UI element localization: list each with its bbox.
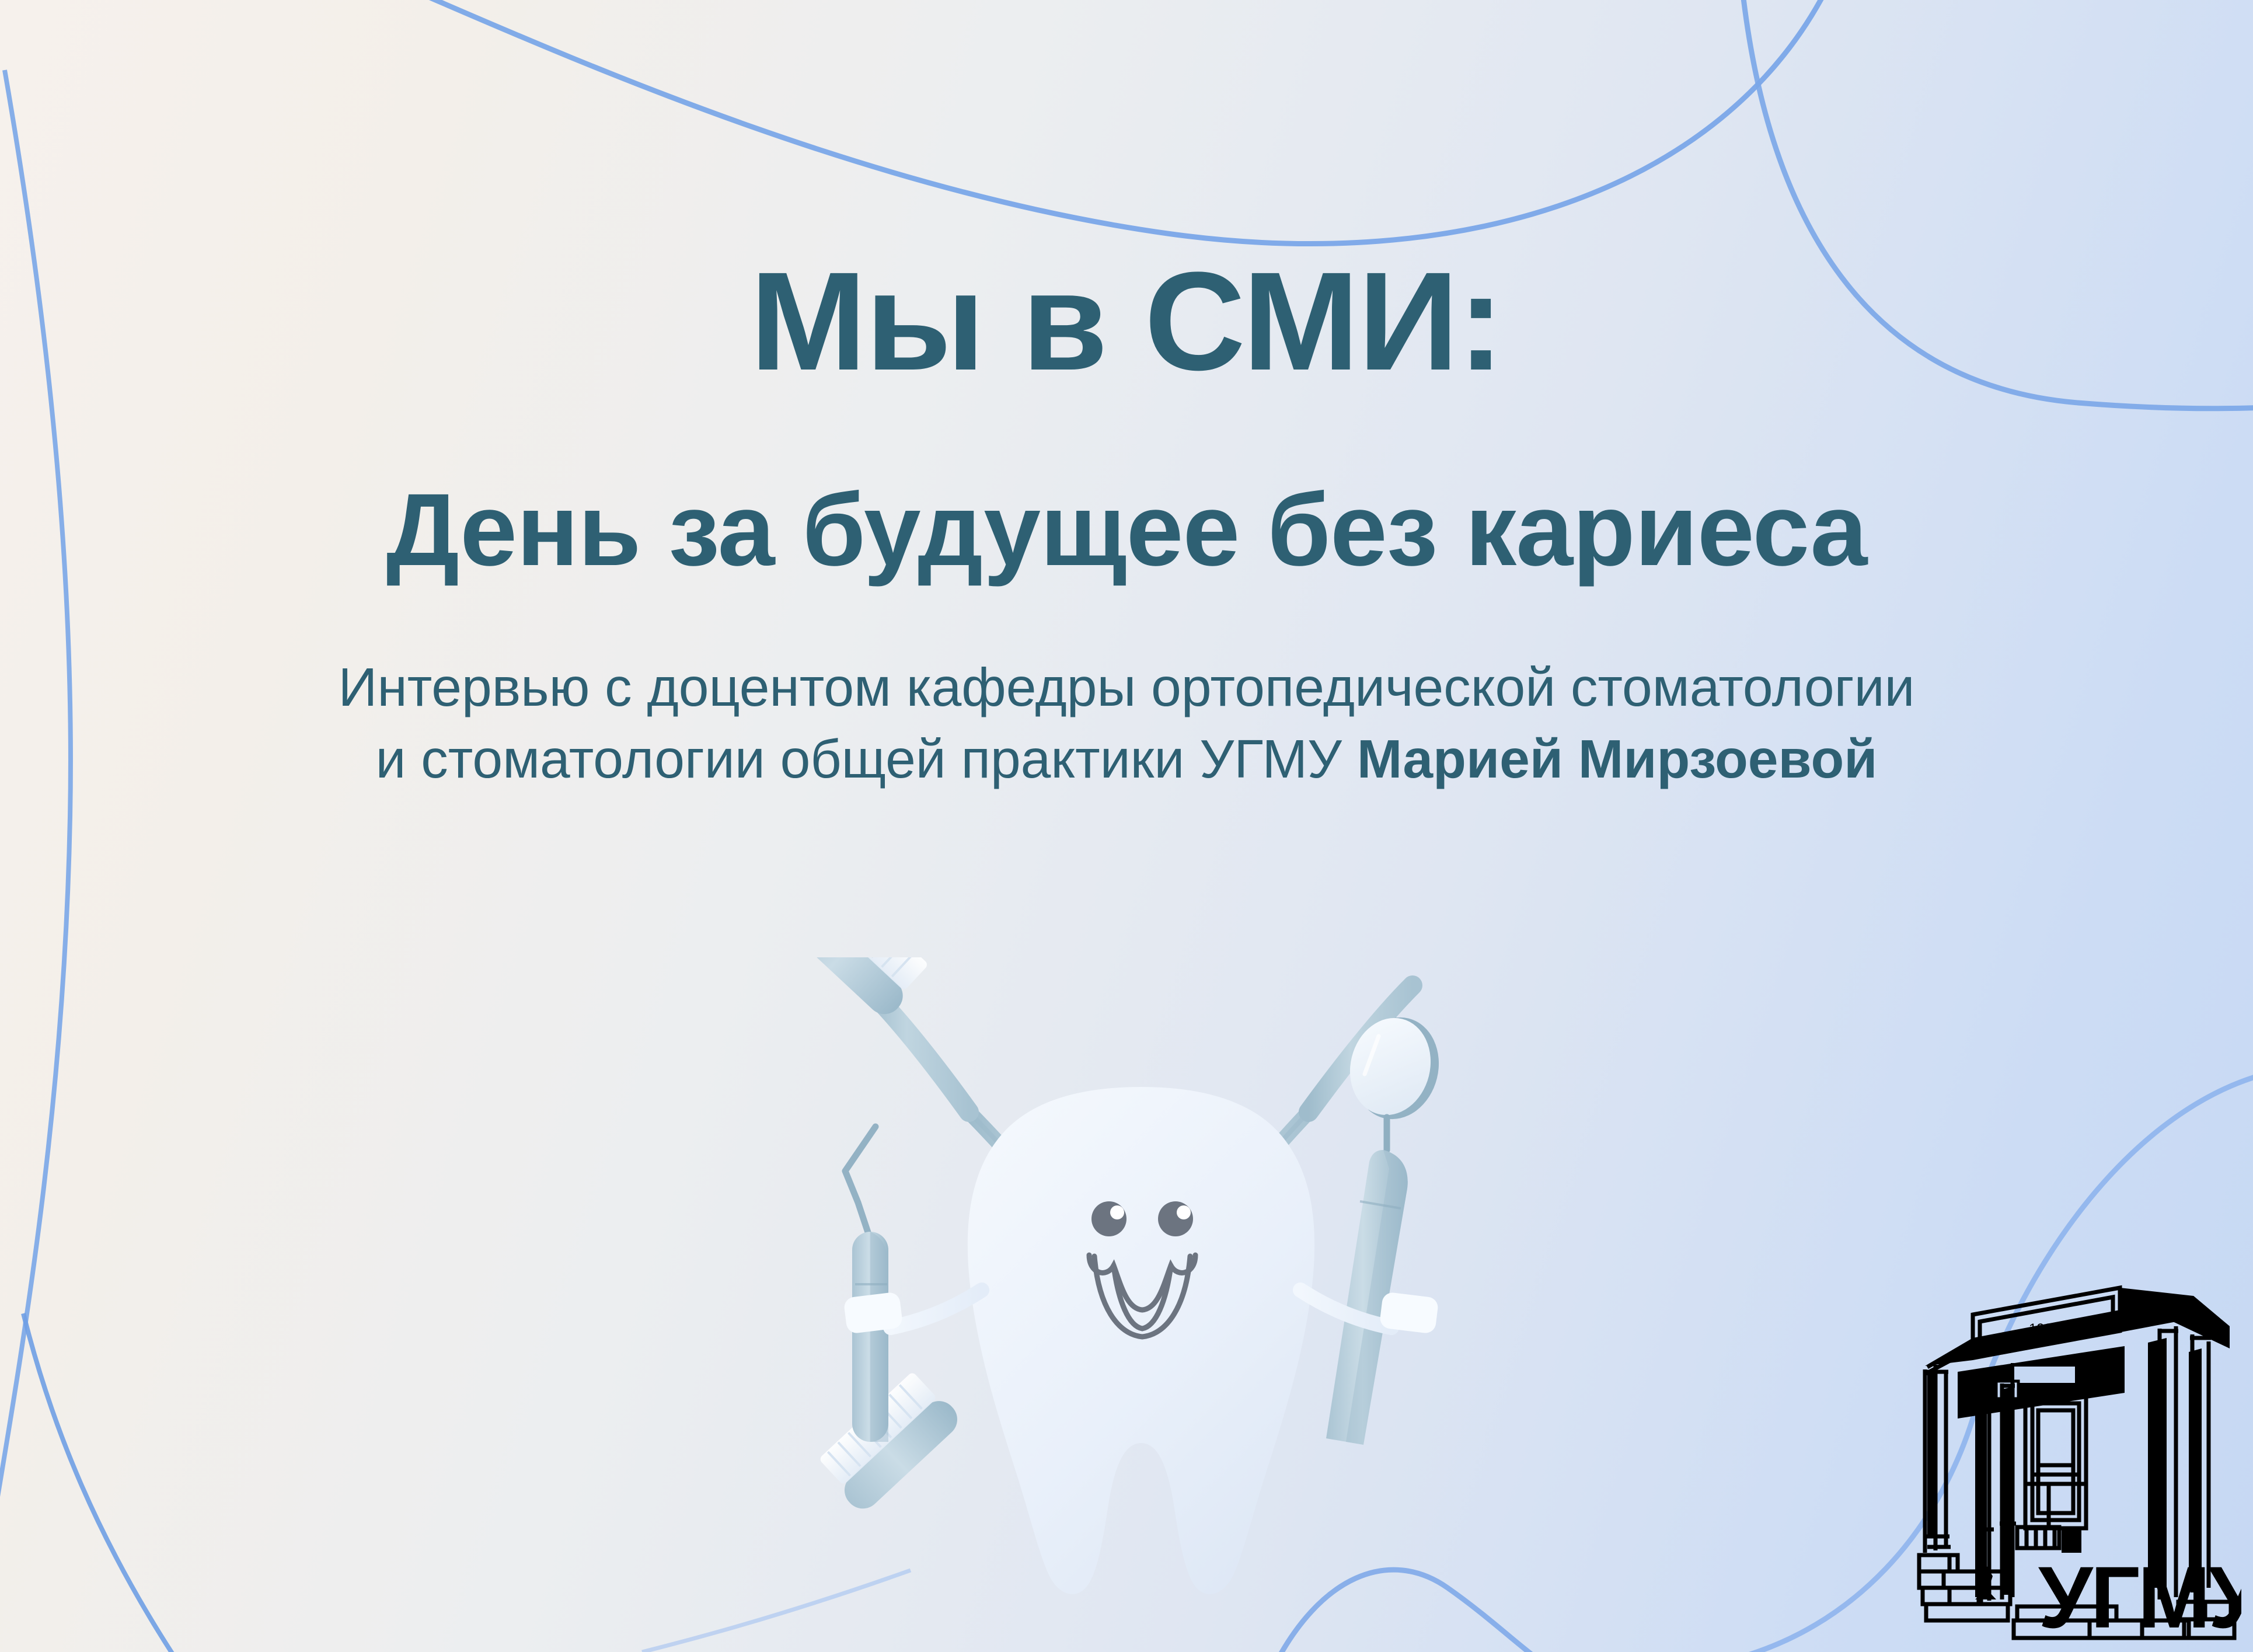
curve-left-lower	[23, 1313, 175, 1652]
subtitle-person-name: Марией Мирзоевой	[1357, 729, 1878, 789]
subtitle-line-1: Интервью с доцентом кафедры ортопедическ…	[339, 657, 1915, 717]
dental-probe-icon	[845, 1127, 888, 1442]
smiling-tooth-illustration	[776, 957, 1506, 1652]
page-headline: День за будущее без кариеса	[0, 391, 2253, 581]
poster-canvas: Мы в СМИ: День за будущее без кариеса Ин…	[0, 0, 2253, 1652]
ugmu-logo: 1930	[1914, 1273, 2241, 1652]
logo-acronym-text: УГМУ	[2038, 1548, 2241, 1646]
page-title-eyebrow: Мы в СМИ:	[0, 0, 2253, 391]
poster-text-block: Мы в СМИ: День за будущее без кариеса Ин…	[0, 0, 2253, 795]
page-subtitle: Интервью с доцентом кафедры ортопедическ…	[105, 581, 2148, 795]
logo-year-text: 1930	[2029, 1321, 2060, 1337]
tooth-body	[968, 1087, 1314, 1594]
tooth-eye-left	[1091, 1201, 1126, 1236]
subtitle-line-2-plain: и стоматологии общей практики УГМУ	[376, 729, 1357, 789]
tooth-eye-right	[1158, 1201, 1193, 1236]
